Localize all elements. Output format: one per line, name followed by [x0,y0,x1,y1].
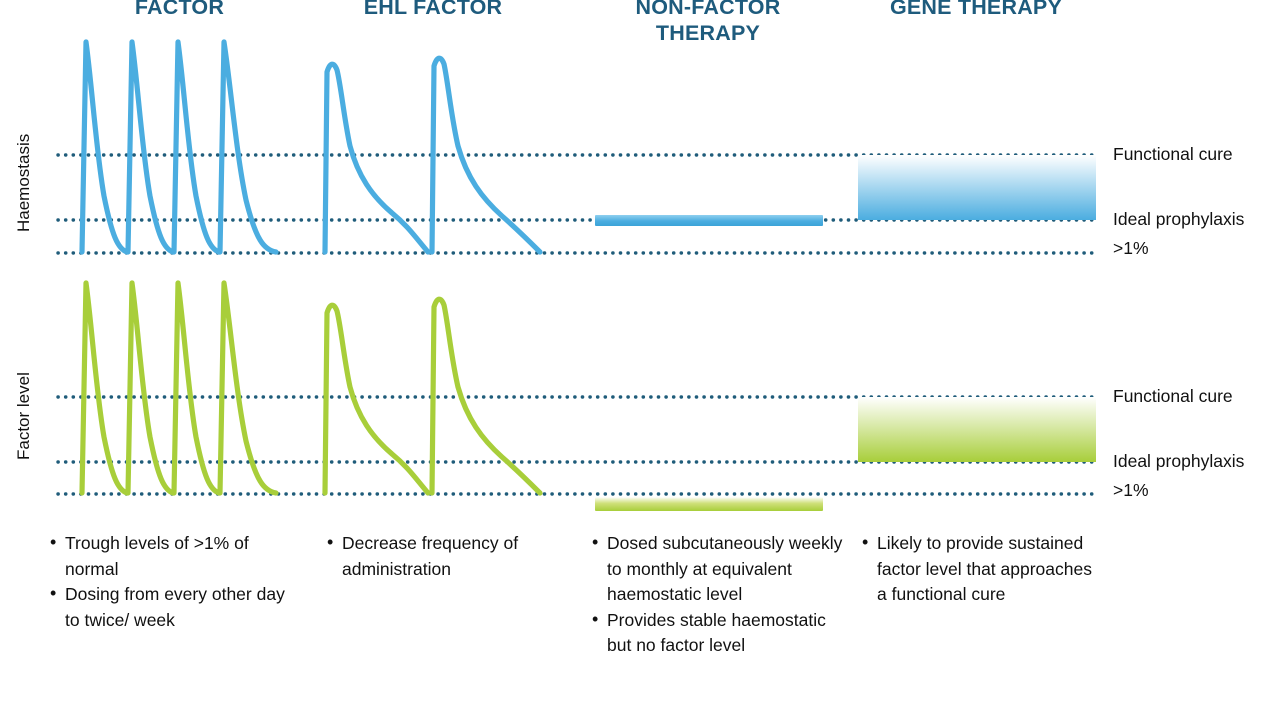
list-item: Dosing from every other day to twice/ we… [48,582,298,633]
band-non-factor-haemostasis [595,215,823,226]
ref-label-functional-cure-top: Functional cure [1113,144,1233,165]
band-gene-therapy-haemostasis [858,155,1096,220]
band-gene-therapy-level [858,397,1096,462]
band-non-factor-level [595,497,823,511]
ref-label-ideal-prophylaxis-bottom: Ideal prophylaxis [1113,451,1244,472]
bullet-list-gene-therapy: Likely to provide sustained factor level… [860,531,1092,608]
column-header-non-factor-therapy: NON-FACTOR THERAPY [608,0,808,46]
column-header-factor: FACTOR [92,0,267,20]
ref-label-functional-cure-bottom: Functional cure [1113,386,1233,407]
ref-label-one-percent-top: >1% [1113,238,1149,259]
list-item: Provides stable haemostatic but no facto… [590,608,845,659]
list-item: Dosed subcutaneously weekly to monthly a… [590,531,845,608]
list-item: Likely to provide sustained factor level… [860,531,1092,608]
bullets-gene-therapy: Likely to provide sustained factor level… [860,531,1092,608]
bullet-list-non-factor: Dosed subcutaneously weekly to monthly a… [590,531,845,659]
column-header-gene-therapy: GENE THERAPY [862,0,1090,20]
bullet-list-ehl-factor: Decrease frequency of administration [325,531,565,582]
bullet-list-factor: Trough levels of >1% of normal Dosing fr… [48,531,298,633]
column-header-ehl-factor: EHL FACTOR [343,0,523,20]
ref-label-ideal-prophylaxis-top: Ideal prophylaxis [1113,209,1244,230]
bullets-non-factor: Dosed subcutaneously weekly to monthly a… [590,531,845,659]
list-item: Trough levels of >1% of normal [48,531,298,582]
bullets-factor: Trough levels of >1% of normal Dosing fr… [48,531,298,633]
ref-label-one-percent-bottom: >1% [1113,480,1149,501]
axis-label-factor-level: Factor level [14,372,34,460]
bullets-ehl-factor: Decrease frequency of administration [325,531,565,582]
axis-label-haemostasis: Haemostasis [14,134,34,232]
list-item: Decrease frequency of administration [325,531,565,582]
